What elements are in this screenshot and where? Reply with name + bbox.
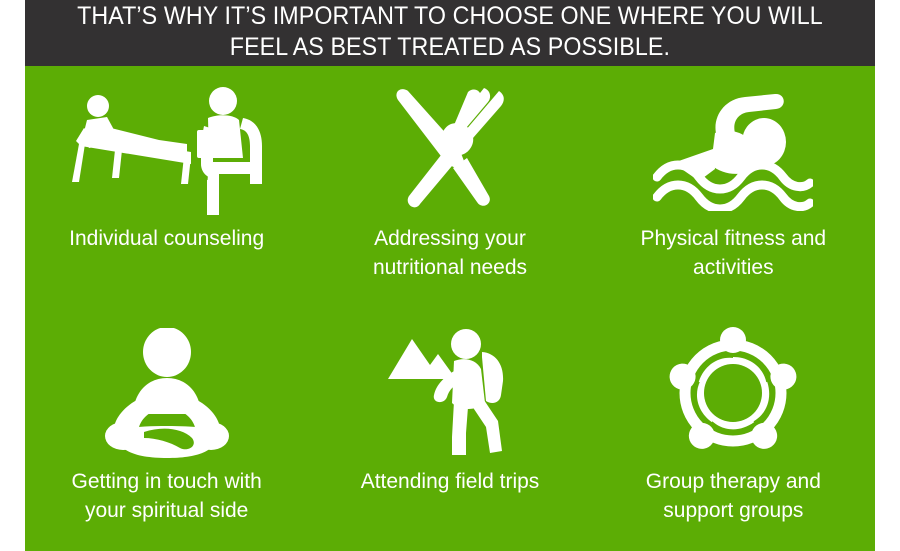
- benefit-item-spiritual-side: Getting in touch with your spiritual sid…: [25, 309, 308, 551]
- group-circle-of-people-icon: [663, 327, 803, 459]
- swimmer-icon: [653, 84, 813, 216]
- benefit-item-nutritional-needs: Addressing your nutritional needs: [308, 66, 591, 309]
- benefit-item-field-trips: Attending field trips: [308, 309, 591, 551]
- benefit-item-physical-fitness: Physical fitness and activities: [592, 66, 875, 309]
- benefit-item-group-therapy: Group therapy and support groups: [592, 309, 875, 551]
- benefits-grid: Individual counseling: [25, 66, 875, 551]
- content-panel: Individual counseling: [25, 66, 875, 551]
- benefit-label: Group therapy and support groups: [646, 467, 821, 525]
- hiker-with-mountains-icon: [382, 327, 518, 459]
- benefit-label: Getting in touch with your spiritual sid…: [72, 467, 262, 525]
- benefit-label: Addressing your nutritional needs: [373, 224, 527, 282]
- header-banner: THAT’S WHY IT’S IMPORTANT TO CHOOSE ONE …: [25, 0, 875, 66]
- fork-and-knife-icon: [389, 84, 511, 216]
- slide: THAT’S WHY IT’S IMPORTANT TO CHOOSE ONE …: [0, 0, 900, 551]
- counseling-session-icon: [67, 84, 267, 216]
- benefit-label: Physical fitness and activities: [641, 224, 827, 282]
- benefit-label: Attending field trips: [361, 467, 540, 496]
- page-title: THAT’S WHY IT’S IMPORTANT TO CHOOSE ONE …: [77, 1, 823, 66]
- benefit-item-individual-counseling: Individual counseling: [25, 66, 308, 309]
- benefit-label: Individual counseling: [69, 224, 264, 253]
- meditation-lotus-icon: [104, 327, 230, 459]
